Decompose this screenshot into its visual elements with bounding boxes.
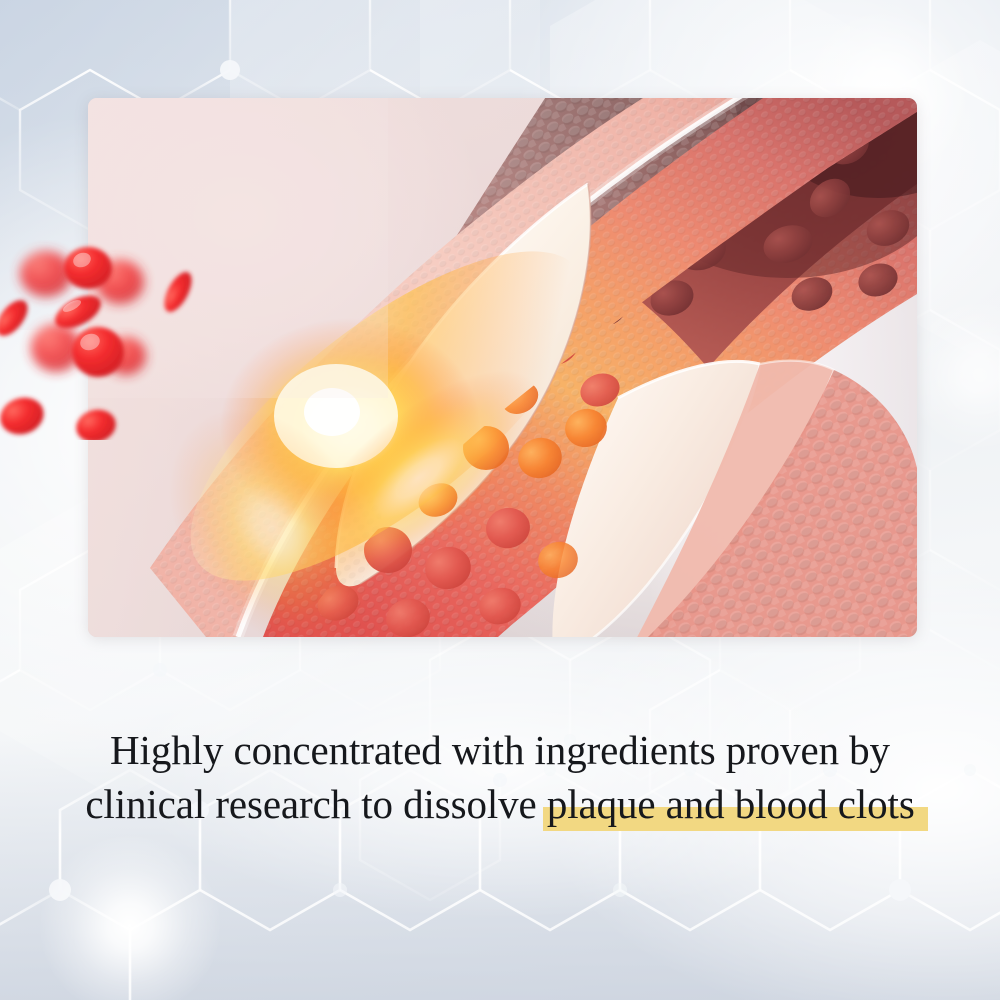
caption-line-2: clinical research to dissolve plaque and… [0, 784, 1000, 825]
caption-line-1: Highly concentrated with ingredients pro… [0, 730, 1000, 771]
caption-highlight-text: plaque and blood clots [547, 781, 915, 827]
caption-block: Highly concentrated with ingredients pro… [0, 720, 1000, 840]
floating-blood-cells [0, 240, 320, 440]
caption-highlight-group: plaque and blood clots [547, 784, 915, 825]
caption-line-2-prefix: clinical research to dissolve [85, 781, 547, 827]
slide-canvas: Highly concentrated with ingredients pro… [0, 0, 1000, 1000]
